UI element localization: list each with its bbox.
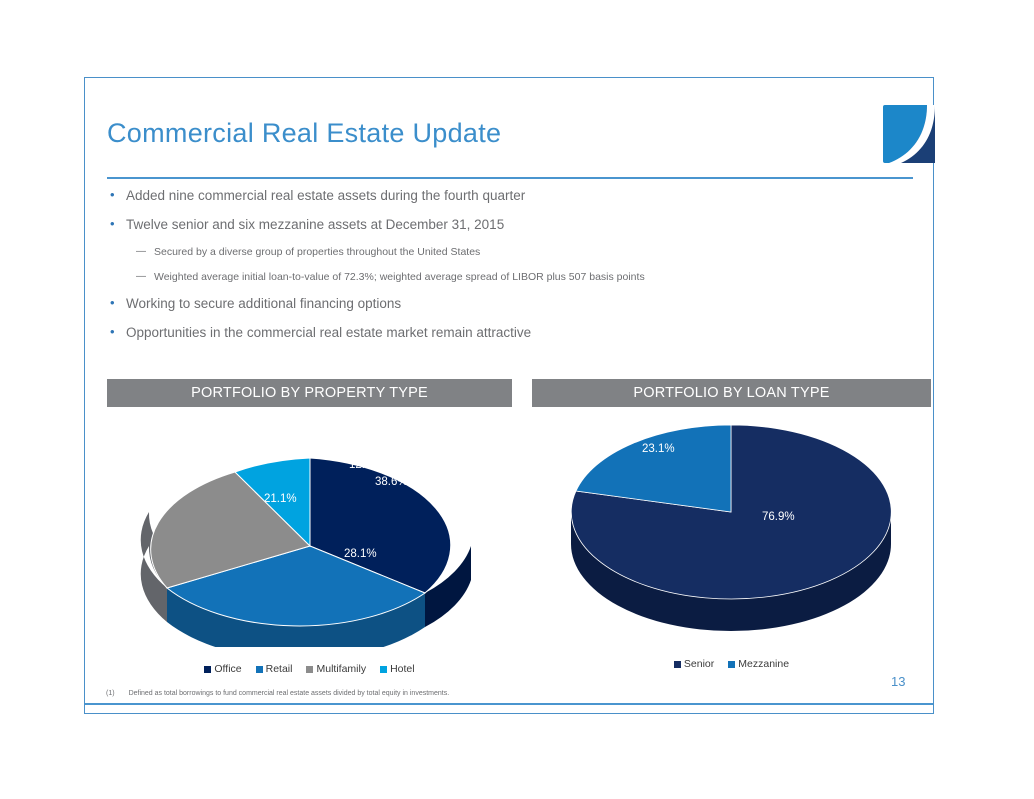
legend-item-multifamily: Multifamily	[306, 663, 366, 675]
company-logo-icon	[883, 105, 935, 163]
legend-label-retail: Retail	[266, 663, 293, 675]
legend-property-type: Office Retail Multifamily Hotel	[107, 663, 512, 675]
legend-label-office: Office	[214, 663, 241, 675]
list-item: • Twelve senior and six mezzanine assets…	[104, 217, 904, 233]
legend-swatch-senior	[674, 661, 681, 668]
legend-label-senior: Senior	[684, 658, 714, 670]
list-item-text: Added nine commercial real estate assets…	[126, 188, 525, 203]
footnote-marker: (1)	[106, 690, 115, 697]
legend-swatch-retail	[256, 666, 263, 673]
slide-frame: Commercial Real Estate Update • Added ni…	[84, 77, 934, 714]
bottom-divider	[85, 703, 933, 705]
footnote: (1) Defined as total borrowings to fund …	[106, 690, 449, 697]
pie-slices	[571, 425, 891, 599]
list-item-text: Working to secure additional financing o…	[126, 296, 401, 311]
pie-label-multifamily: 21.1%	[264, 493, 297, 505]
pie-label-senior: 76.9%	[762, 511, 795, 523]
sub-list-item: — Secured by a diverse group of properti…	[104, 246, 904, 259]
footnote-text: Defined as total borrowings to fund comm…	[129, 690, 450, 697]
legend-loan-type: Senior Mezzanine	[532, 658, 931, 670]
sub-list-item-text: Secured by a diverse group of properties…	[154, 246, 480, 258]
title-divider	[107, 177, 913, 179]
legend-swatch-hotel	[380, 666, 387, 673]
bullet-list: • Added nine commercial real estate asse…	[104, 188, 904, 354]
pie-label-hotel: 12.2%	[349, 459, 382, 471]
bullet-marker: •	[110, 295, 115, 311]
chart-panel-property-type: PORTFOLIO BY PROPERTY TYPE	[107, 379, 512, 675]
chart-panel-loan-type: PORTFOLIO BY LOAN TYPE 23.1% 76.9% Senio…	[532, 379, 931, 670]
list-item: • Working to secure additional financing…	[104, 296, 904, 312]
legend-swatch-multifamily	[306, 666, 313, 673]
sub-list-item-text: Weighted average initial loan-to-value o…	[154, 271, 645, 283]
pie-chart-property-type: 12.2% 21.1% 28.1% 38.6%	[107, 407, 512, 647]
legend-item-hotel: Hotel	[380, 663, 415, 675]
legend-label-mezzanine: Mezzanine	[738, 658, 789, 670]
pie-label-mezzanine: 23.1%	[642, 443, 675, 455]
legend-label-hotel: Hotel	[390, 663, 415, 675]
legend-swatch-office	[204, 666, 211, 673]
sub-list-item: — Weighted average initial loan-to-value…	[104, 271, 904, 284]
legend-item-mezzanine: Mezzanine	[728, 658, 789, 670]
legend-swatch-mezzanine	[728, 661, 735, 668]
pie-chart-loan-type: 23.1% 76.9%	[532, 407, 931, 647]
legend-item-retail: Retail	[256, 663, 293, 675]
list-item: • Opportunities in the commercial real e…	[104, 325, 904, 341]
bullet-marker: •	[110, 324, 115, 340]
legend-label-multifamily: Multifamily	[316, 663, 366, 675]
legend-item-office: Office	[204, 663, 241, 675]
page-title: Commercial Real Estate Update	[107, 118, 501, 149]
bullet-marker: •	[110, 216, 115, 232]
page-number: 13	[891, 674, 905, 689]
list-item-text: Opportunities in the commercial real est…	[126, 325, 531, 340]
dash-marker: —	[136, 271, 146, 283]
legend-item-senior: Senior	[674, 658, 714, 670]
chart-title-loan-type: PORTFOLIO BY LOAN TYPE	[532, 379, 931, 407]
chart-title-property-type: PORTFOLIO BY PROPERTY TYPE	[107, 379, 512, 407]
pie-label-retail: 28.1%	[344, 548, 377, 560]
list-item: • Added nine commercial real estate asse…	[104, 188, 904, 204]
bullet-marker: •	[110, 187, 115, 203]
list-item-text: Twelve senior and six mezzanine assets a…	[126, 217, 504, 232]
pie-label-office: 38.6%	[375, 476, 408, 488]
dash-marker: —	[136, 246, 146, 258]
